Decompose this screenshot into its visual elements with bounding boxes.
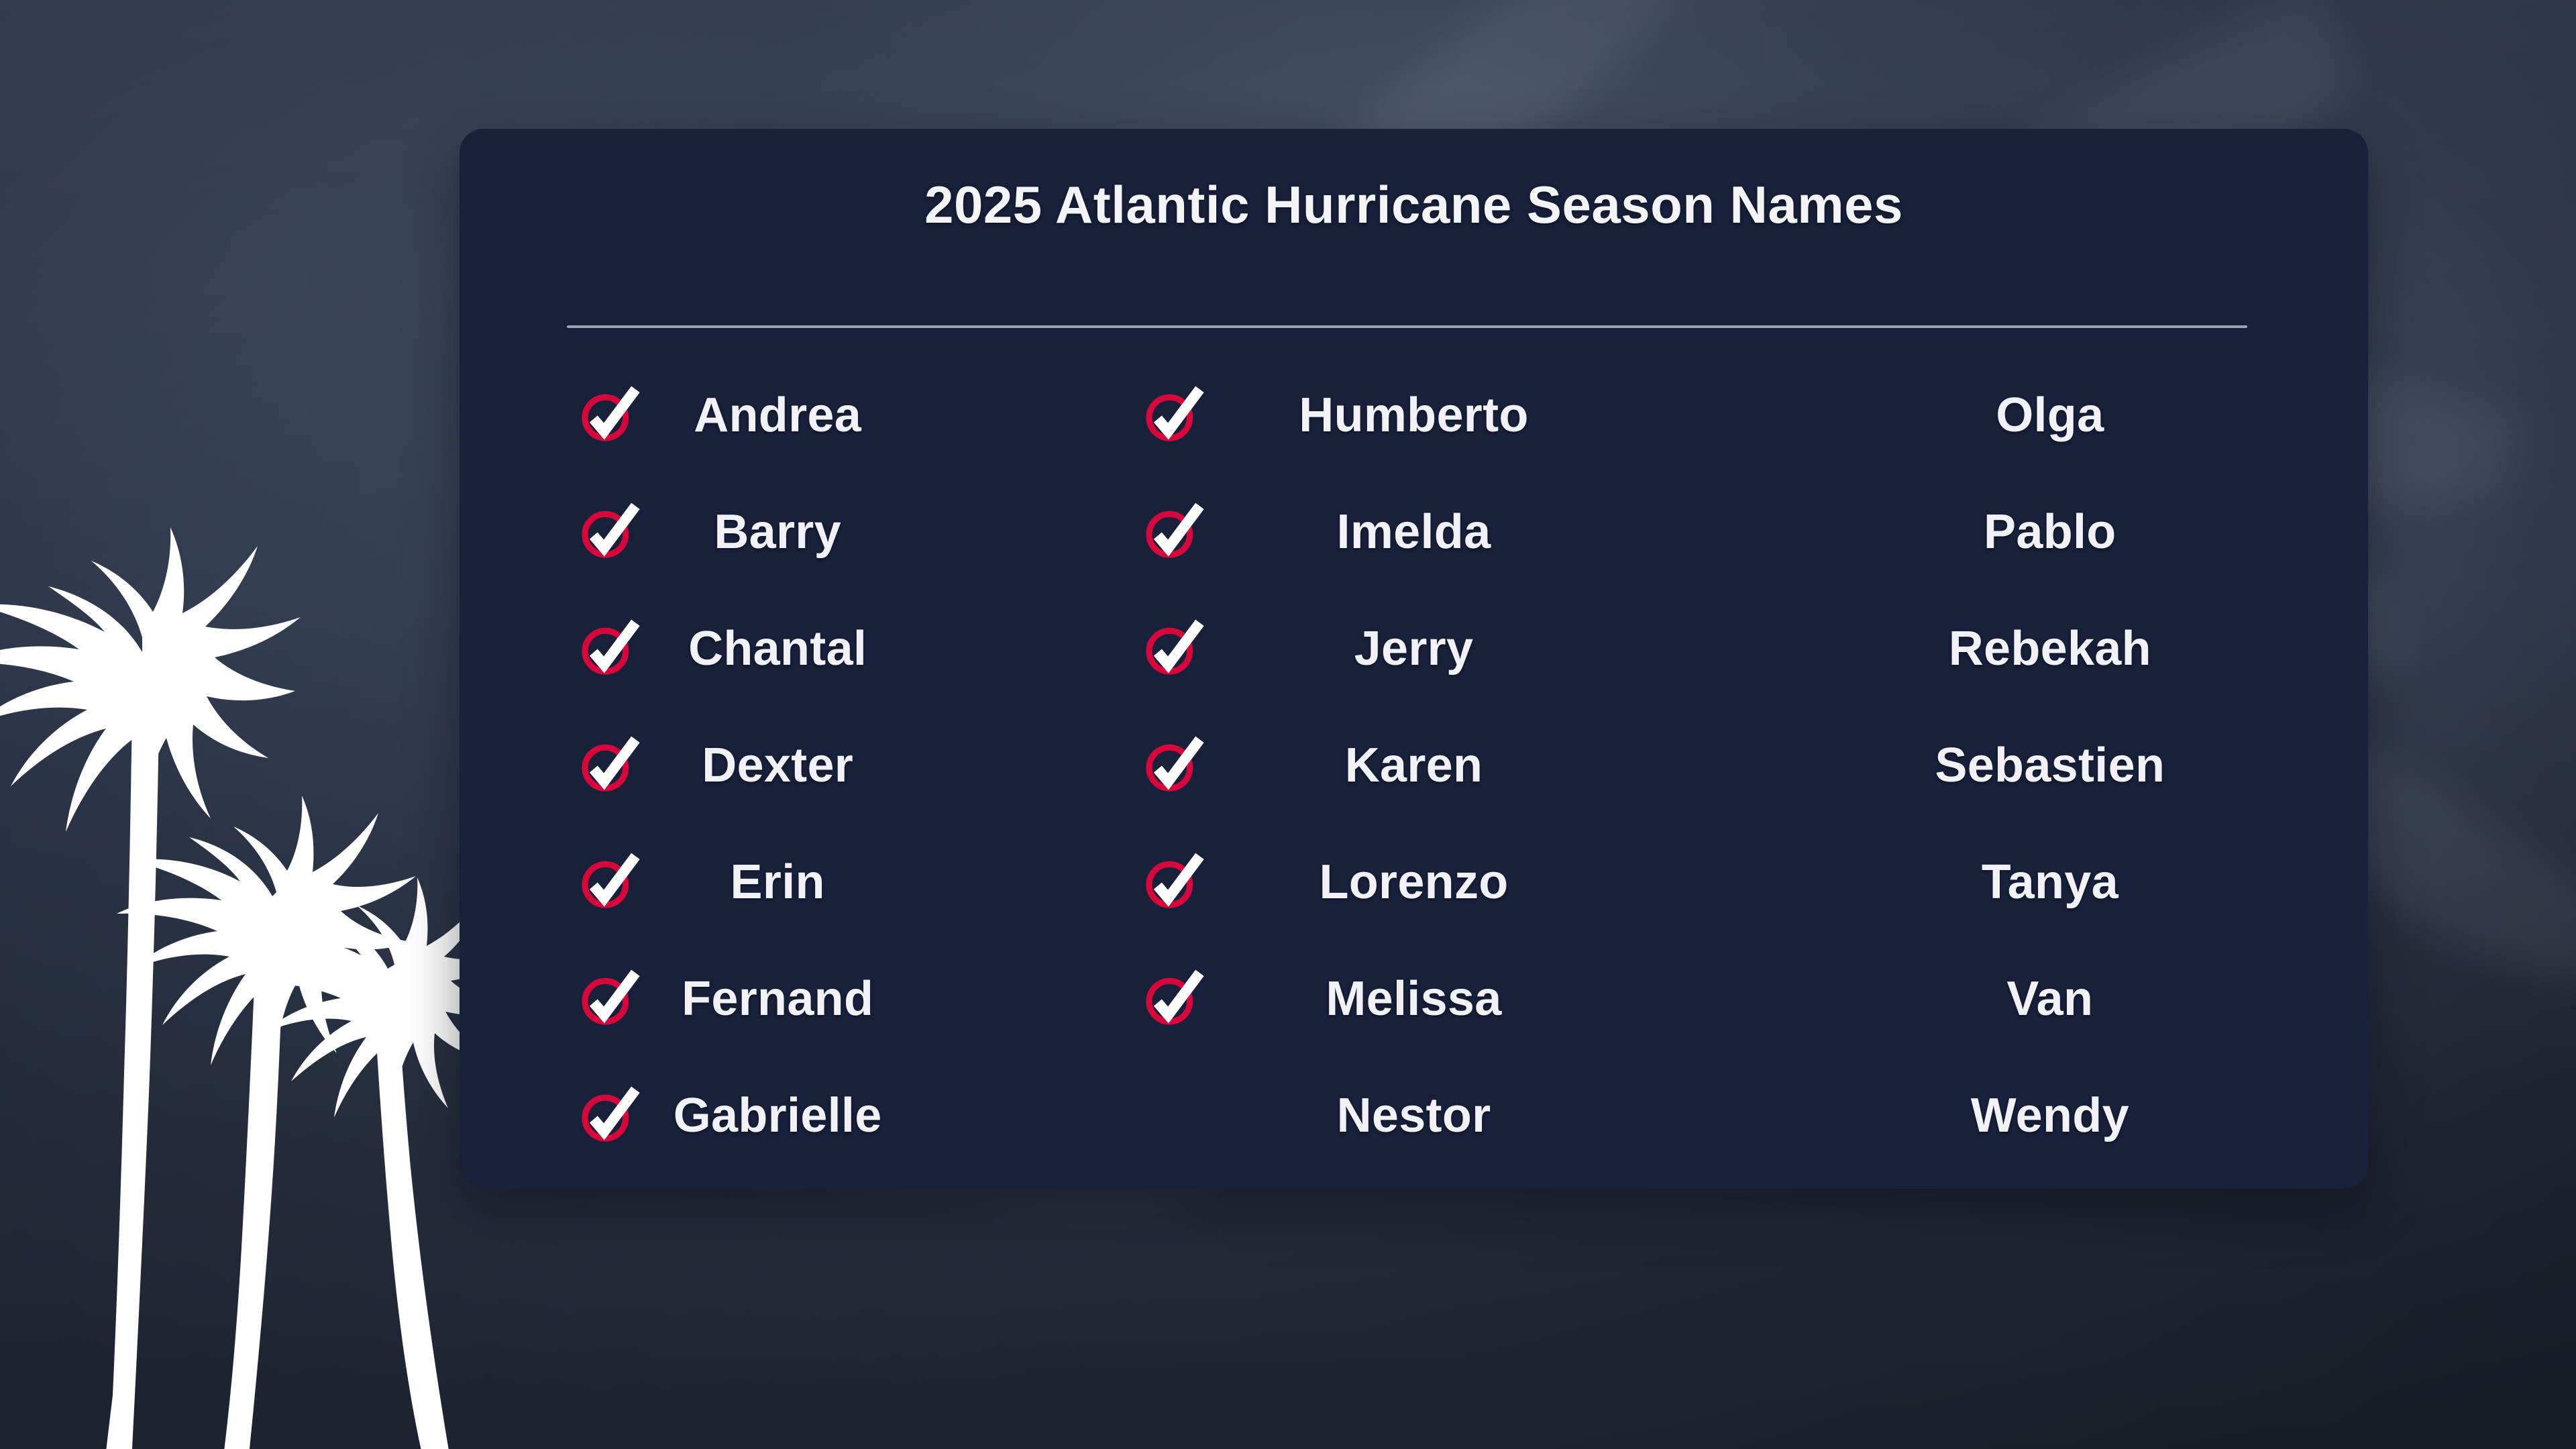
hurricane-name-label: Karen (1345, 738, 1483, 793)
name-row[interactable]: Chantal (460, 590, 1095, 707)
hurricane-name-label: Pablo (1984, 504, 2116, 559)
column-3: OlgaPabloRebekahSebastienTanyaVanWendy (1732, 357, 2368, 1174)
check-circle-icon (1141, 618, 1203, 680)
check-circle-icon (577, 735, 639, 796)
hurricane-name-label: Imelda (1337, 504, 1491, 559)
name-row[interactable]: Lorenzo (1095, 824, 1731, 941)
name-row[interactable]: Rebekah (1732, 590, 2368, 707)
hurricane-name-label: Van (2006, 971, 2093, 1026)
names-columns: AndreaBarryChantalDexterErinFernandGabri… (460, 357, 2368, 1174)
name-row[interactable]: Andrea (460, 357, 1095, 474)
hurricane-name-label: Humberto (1299, 388, 1528, 443)
column-2: HumbertoImeldaJerryKarenLorenzoMelissaNe… (1095, 357, 1731, 1174)
hurricane-name-label: Fernand (682, 971, 873, 1026)
name-row[interactable]: Olga (1732, 357, 2368, 474)
check-circle-icon (577, 968, 639, 1030)
name-row[interactable]: Van (1732, 941, 2368, 1057)
hurricane-name-label: Wendy (1971, 1088, 2129, 1143)
hurricane-name-label: Rebekah (1949, 621, 2151, 676)
check-circle-icon (1141, 968, 1203, 1030)
hurricane-name-label: Lorenzo (1319, 855, 1508, 910)
name-row[interactable]: Gabrielle (460, 1057, 1095, 1174)
name-row[interactable]: Karen (1095, 707, 1731, 824)
hurricane-name-label: Olga (1996, 388, 2104, 443)
name-row[interactable]: Fernand (460, 941, 1095, 1057)
hurricane-name-label: Chantal (688, 621, 867, 676)
check-circle-icon (577, 384, 639, 446)
name-row[interactable]: Imelda (1095, 474, 1731, 590)
check-circle-icon (1141, 851, 1203, 913)
hurricane-name-label: Tanya (1982, 855, 2118, 910)
hurricane-name-label: Melissa (1326, 971, 1501, 1026)
check-circle-icon (1141, 384, 1203, 446)
name-row[interactable]: Dexter (460, 707, 1095, 824)
check-circle-icon (577, 851, 639, 913)
check-circle-icon (1141, 735, 1203, 796)
name-row[interactable]: Melissa (1095, 941, 1731, 1057)
hurricane-name-label: Erin (731, 855, 825, 910)
hurricane-name-label: Jerry (1354, 621, 1474, 676)
check-circle-icon (577, 618, 639, 680)
check-circle-icon (1141, 501, 1203, 563)
check-circle-icon (577, 1085, 639, 1146)
name-row[interactable]: Jerry (1095, 590, 1731, 707)
name-row[interactable]: Tanya (1732, 824, 2368, 941)
hurricane-name-label: Nestor (1337, 1088, 1491, 1143)
title-divider (567, 325, 2247, 328)
hurricane-name-label: Andrea (694, 388, 861, 443)
screenshot-root: 2025 Atlantic Hurricane Season Names And… (0, 0, 2576, 1449)
name-row[interactable]: Barry (460, 474, 1095, 590)
hurricane-name-label: Barry (714, 504, 841, 559)
name-row[interactable]: Pablo (1732, 474, 2368, 590)
name-row[interactable]: Humberto (1095, 357, 1731, 474)
hurricane-name-label: Gabrielle (674, 1088, 882, 1143)
column-1: AndreaBarryChantalDexterErinFernandGabri… (460, 357, 1095, 1174)
name-row[interactable]: Sebastien (1732, 707, 2368, 824)
name-row[interactable]: Nestor (1095, 1057, 1731, 1174)
hurricane-names-card: 2025 Atlantic Hurricane Season Names And… (460, 129, 2368, 1189)
check-circle-icon (577, 501, 639, 563)
page-title: 2025 Atlantic Hurricane Season Names (460, 174, 2368, 235)
name-row[interactable]: Wendy (1732, 1057, 2368, 1174)
hurricane-name-label: Sebastien (1935, 738, 2165, 793)
name-row[interactable]: Erin (460, 824, 1095, 941)
hurricane-name-label: Dexter (702, 738, 853, 793)
